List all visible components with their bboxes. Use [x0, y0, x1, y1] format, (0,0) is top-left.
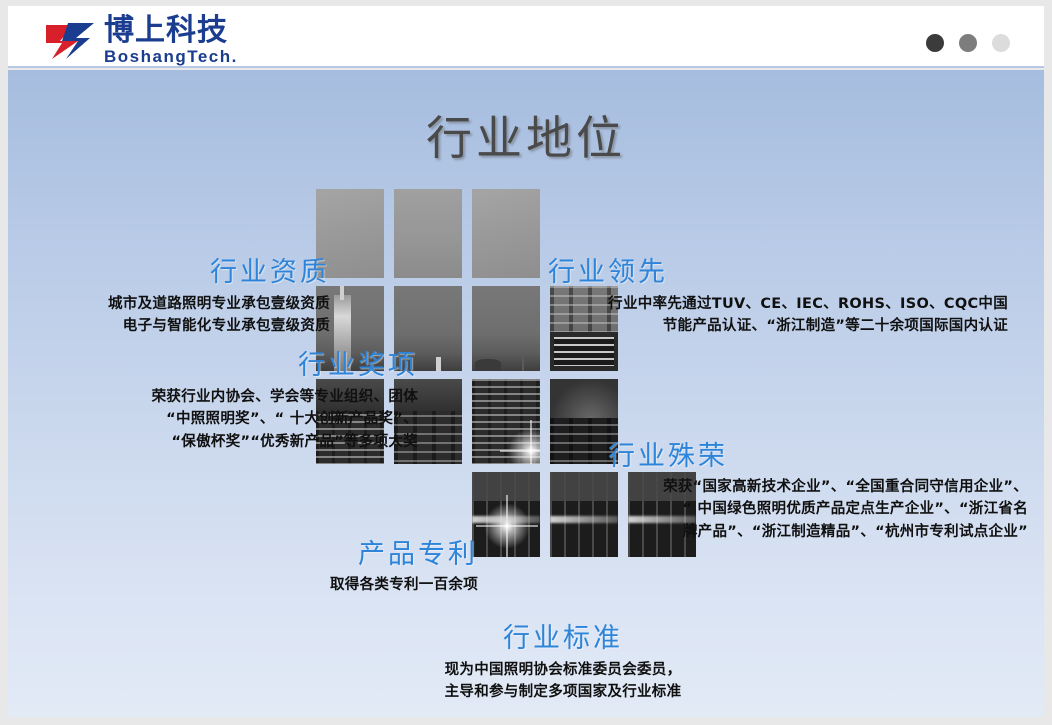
- sky-tile-3: [472, 189, 540, 278]
- header-dots: [926, 34, 1010, 52]
- block-qualification: 行业资质 城市及道路照明专业承包壹级资质 电子与智能化专业承包壹级资质: [30, 258, 330, 338]
- header-bar: 博上科技 BoshangTech.: [8, 6, 1044, 68]
- block-honors: 行业殊荣 荣获“国家高新技术企业”、“全国重合同守信用企业”、 “ 中国绿色照明…: [608, 442, 1028, 543]
- logo-text: 博上科技 BoshangTech.: [104, 16, 238, 65]
- awards-heading: 行业奖项: [118, 351, 418, 381]
- night-street-tile-1: [472, 472, 540, 557]
- standard-line-1: 现为中国照明协会标准委员会委员，: [338, 659, 788, 681]
- medium-dot-icon: [959, 34, 977, 52]
- qualification-line-2: 电子与智能化专业承包壹级资质: [30, 315, 330, 337]
- awards-line-2: “中照照明奖”、“ 十大创新产品奖”、: [118, 408, 418, 430]
- logo-english-name: BoshangTech.: [104, 48, 238, 65]
- city-tile-3: [472, 379, 540, 464]
- patent-heading: 产品专利: [208, 540, 478, 570]
- page-title: 行业地位: [8, 102, 1044, 168]
- honors-line-2: “ 中国绿色照明优质产品定点生产企业”、“浙江省名: [608, 498, 1028, 520]
- standard-line-2: 主导和参与制定多项国家及行业标准: [338, 681, 788, 703]
- qualification-heading: 行业资质: [30, 258, 330, 288]
- dark-dot-icon: [926, 34, 944, 52]
- company-logo[interactable]: 博上科技 BoshangTech.: [44, 16, 238, 65]
- block-standard: 行业标准 现为中国照明协会标准委员会委员， 主导和参与制定多项国家及行业标准: [338, 624, 788, 704]
- slide-root: 博上科技 BoshangTech. 行业地位: [0, 0, 1052, 725]
- skyline-tile-3: [472, 286, 540, 371]
- block-leading: 行业领先 行业中率先通过TUV、CE、IEC、ROHS、ISO、CQC中国 节能…: [548, 258, 1008, 338]
- leading-line-1: 行业中率先通过TUV、CE、IEC、ROHS、ISO、CQC中国: [548, 293, 1008, 315]
- patent-line-1: 取得各类专利一百余项: [208, 574, 478, 596]
- block-patent: 产品专利 取得各类专利一百余项: [208, 540, 478, 596]
- honors-heading: 行业殊荣: [608, 442, 1028, 472]
- leading-heading: 行业领先: [548, 258, 1008, 288]
- awards-line-1: 荣获行业内协会、学会等专业组织、团体: [118, 386, 418, 408]
- awards-line-3: “保傲杯奖”“优秀新产品”等多项大奖: [118, 431, 418, 453]
- logo-chinese-name: 博上科技: [104, 16, 238, 46]
- logo-mark-icon: [44, 19, 96, 63]
- slide-canvas: 行业地位: [8, 70, 1044, 717]
- light-dot-icon: [992, 34, 1010, 52]
- qualification-line-1: 城市及道路照明专业承包壹级资质: [30, 293, 330, 315]
- block-awards: 行业奖项 荣获行业内协会、学会等专业组织、团体 “中照照明奖”、“ 十大创新产品…: [118, 351, 418, 453]
- sky-tile-2: [394, 189, 462, 278]
- leading-line-2: 节能产品认证、“浙江制造”等二十余项国际国内认证: [548, 315, 1008, 337]
- honors-line-1: 荣获“国家高新技术企业”、“全国重合同守信用企业”、: [608, 476, 1028, 498]
- honors-line-3: 牌产品”、“浙江制造精品”、“杭州市专利试点企业”: [608, 521, 1028, 543]
- standard-heading: 行业标准: [338, 624, 788, 654]
